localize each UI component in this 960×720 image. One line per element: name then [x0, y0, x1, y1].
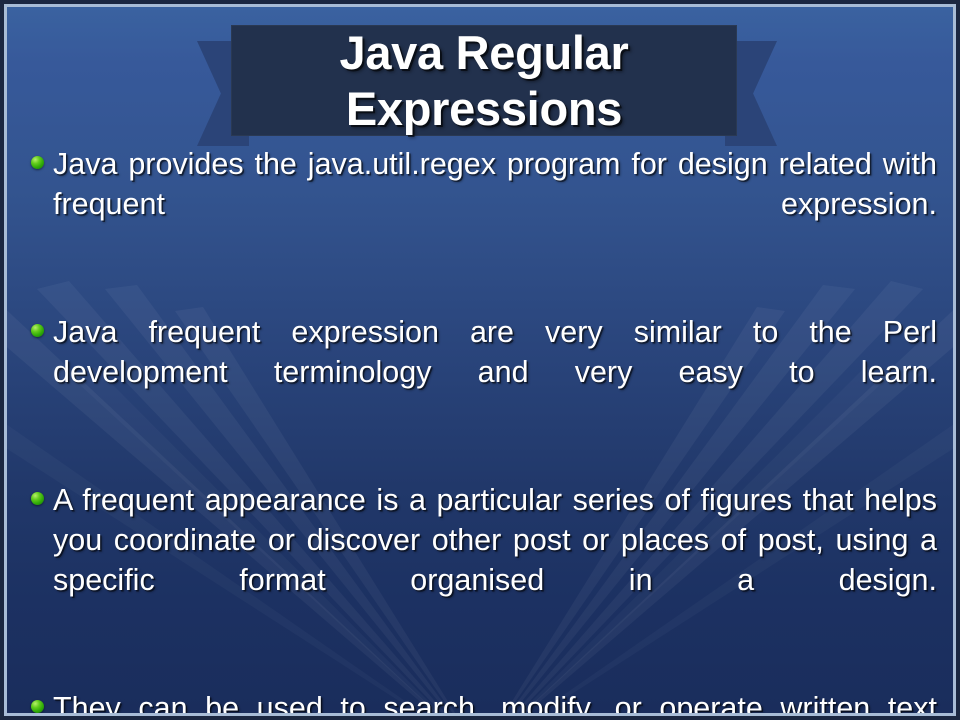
- bullet-text: A frequent appearance is a particular se…: [53, 481, 937, 641]
- list-item: They can be used to search, modify, or o…: [7, 689, 953, 713]
- green-sphere-bullet-icon: [31, 324, 44, 337]
- green-sphere-bullet-icon: [31, 700, 44, 713]
- list-item: Java frequent expression are very simila…: [7, 313, 953, 433]
- bullet-text: Java frequent expression are very simila…: [53, 313, 937, 433]
- bullet-text: Java provides the java.util.regex progra…: [53, 145, 937, 265]
- bullet-list: Java provides the java.util.regex progra…: [7, 145, 953, 713]
- green-sphere-bullet-icon: [31, 492, 44, 505]
- green-sphere-bullet-icon: [31, 156, 44, 169]
- list-item: Java provides the java.util.regex progra…: [7, 145, 953, 265]
- bullet-text: They can be used to search, modify, or o…: [53, 689, 937, 713]
- title-banner: Java Regular Expressions: [7, 18, 953, 148]
- slide-canvas: Java Regular Expressions Java provides t…: [7, 7, 953, 713]
- presentation-slide: Java Regular Expressions Java provides t…: [0, 0, 960, 720]
- list-item: A frequent appearance is a particular se…: [7, 481, 953, 641]
- page-title: Java Regular Expressions: [231, 25, 737, 137]
